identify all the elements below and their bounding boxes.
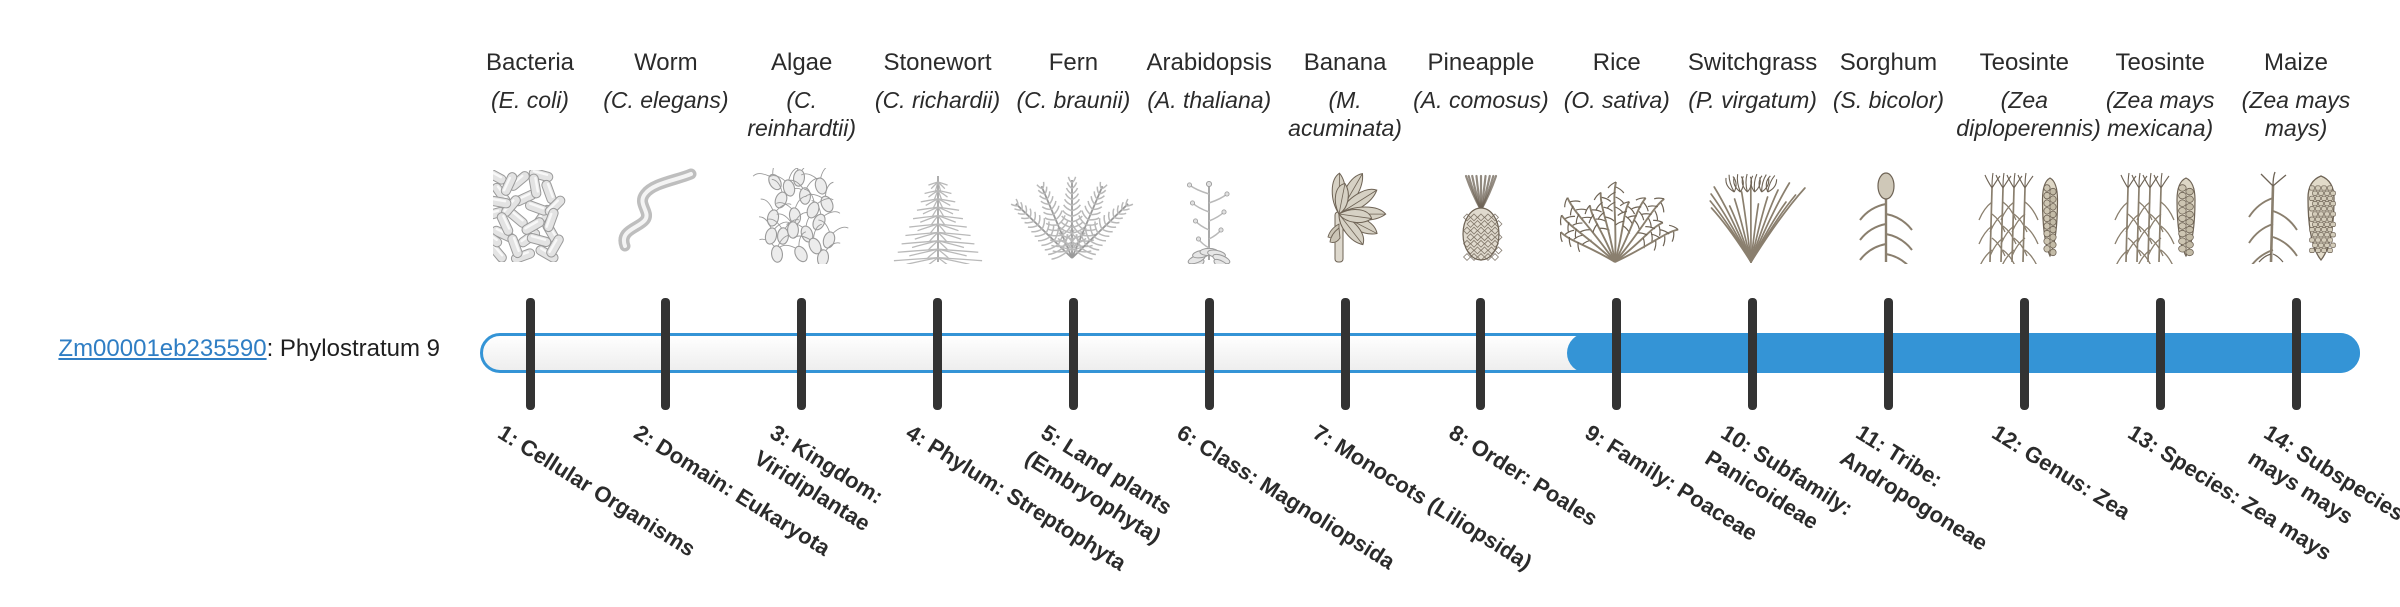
species-scientific-name: (C. braunii)	[1005, 86, 1141, 114]
stratum-tick-12[interactable]	[2020, 298, 2029, 410]
gene-id-link[interactable]: Zm00001eb235590	[58, 335, 266, 362]
nematode-worm-illustration	[598, 168, 734, 264]
gene-label-separator: :	[267, 335, 280, 362]
species-common-name: Teosinte	[2092, 48, 2228, 78]
species-scientific-name: (Zea mays mexicana)	[2092, 86, 2228, 142]
species-column-stonewort: Stonewort(C. richardii)	[870, 48, 1006, 114]
bacteria-rods-illustration	[462, 168, 598, 264]
species-common-name: Banana	[1277, 48, 1413, 78]
stratum-tick-7[interactable]	[1341, 298, 1350, 410]
species-common-name: Fern	[1005, 48, 1141, 78]
species-scientific-name: (A. thaliana)	[1141, 86, 1277, 114]
species-scientific-name: (C. elegans)	[598, 86, 734, 114]
maize-plant-and-ear-illustration	[2228, 168, 2364, 264]
species-column-teosinte: Teosinte(Zea mays mexicana)	[2092, 48, 2228, 142]
fern-frond-illustration	[1005, 168, 1141, 264]
switchgrass-clump-illustration	[1685, 168, 1821, 264]
phylostratum-value: Phylostratum 9	[280, 335, 440, 362]
stratum-tick-4[interactable]	[933, 298, 942, 410]
phylostratum-progress-track[interactable]	[480, 333, 2360, 373]
species-scientific-name: (M. acuminata)	[1277, 86, 1413, 142]
stratum-number: 13:	[2124, 420, 2164, 458]
species-common-name: Worm	[598, 48, 734, 78]
species-scientific-name: (Zea diploperennis)	[1956, 86, 2092, 142]
species-common-name: Switchgrass	[1685, 48, 1821, 78]
stratum-label-7: 7: Monocots (Liliopsida)	[1307, 418, 1543, 581]
species-scientific-name: (Zea mays mays)	[2228, 86, 2364, 142]
species-scientific-name: (C. reinhardtii)	[734, 86, 870, 142]
stratum-tick-11[interactable]	[1884, 298, 1893, 410]
species-common-name: Stonewort	[870, 48, 1006, 78]
gene-phylostratum-label: Zm00001eb235590: Phylostratum 9	[20, 334, 440, 364]
stratum-tick-13[interactable]	[2156, 298, 2165, 410]
species-column-pineapple: Pineapple(A. comosus)	[1413, 48, 1549, 114]
stratum-tick-5[interactable]	[1069, 298, 1078, 410]
species-scientific-name: (A. comosus)	[1413, 86, 1549, 114]
stratum-tick-1[interactable]	[526, 298, 535, 410]
stratum-label-8: 8: Order: Poales	[1443, 418, 1679, 581]
stratum-tick-3[interactable]	[797, 298, 806, 410]
pineapple-fruit-illustration	[1413, 168, 1549, 264]
banana-plant-illustration	[1277, 168, 1413, 264]
species-scientific-name: (E. coli)	[462, 86, 598, 114]
species-column-sorghum: Sorghum(S. bicolor)	[1820, 48, 1956, 114]
species-common-name: Algae	[734, 48, 870, 78]
arabidopsis-rosette-illustration	[1141, 168, 1277, 264]
species-scientific-name: (P. virgatum)	[1685, 86, 1821, 114]
species-column-algae: Algae(C. reinhardtii)	[734, 48, 870, 142]
species-common-name: Arabidopsis	[1141, 48, 1277, 78]
teosinte-plant-and-ear-illustration	[1956, 168, 2092, 264]
stratum-number: 3:	[765, 420, 795, 452]
species-column-fern: Fern(C. braunii)	[1005, 48, 1141, 114]
species-common-name: Pineapple	[1413, 48, 1549, 78]
species-scientific-name: (S. bicolor)	[1820, 86, 1956, 114]
stratum-rank-name: Genus: Zea	[2020, 440, 2135, 525]
stonewort-alga-illustration	[870, 168, 1006, 264]
stratum-tick-14[interactable]	[2292, 298, 2301, 410]
stratum-number: 9:	[1580, 420, 1610, 452]
green-algae-cells-illustration	[734, 168, 870, 264]
stratum-tick-10[interactable]	[1748, 298, 1757, 410]
species-common-name: Bacteria	[462, 48, 598, 78]
stratum-tick-2[interactable]	[661, 298, 670, 410]
sorghum-plant-illustration	[1820, 168, 1956, 264]
species-common-name: Sorghum	[1820, 48, 1956, 78]
species-scientific-name: (C. richardii)	[870, 86, 1006, 114]
species-column-banana: Banana(M. acuminata)	[1277, 48, 1413, 142]
species-column-bacteria: Bacteria(E. coli)	[462, 48, 598, 114]
species-common-name: Maize	[2228, 48, 2364, 78]
species-column-switchgrass: Switchgrass(P. virgatum)	[1685, 48, 1821, 114]
stratum-label-1: 1: Cellular Organisms	[492, 418, 728, 581]
rice-plant-illustration	[1549, 168, 1685, 264]
species-column-rice: Rice(O. sativa)	[1549, 48, 1685, 114]
teosinte-mexicana-plant-and-ear-illustration	[2092, 168, 2228, 264]
species-common-name: Rice	[1549, 48, 1685, 78]
stratum-rank-name: Order: Poales	[1466, 433, 1602, 531]
species-column-teosinte: Teosinte(Zea diploperennis)	[1956, 48, 2092, 142]
species-column-arabidopsis: Arabidopsis(A. thaliana)	[1141, 48, 1277, 114]
species-column-maize: Maize(Zea mays mays)	[2228, 48, 2364, 142]
phylostratum-timeline: Zm00001eb235590: Phylostratum 9 Bacteria…	[0, 0, 2400, 580]
stratum-tick-8[interactable]	[1476, 298, 1485, 410]
phylostratum-progress-fill	[1567, 333, 2360, 373]
species-column-worm: Worm(C. elegans)	[598, 48, 734, 114]
stratum-tick-6[interactable]	[1205, 298, 1214, 410]
species-common-name: Teosinte	[1956, 48, 2092, 78]
stratum-number: 4:	[901, 420, 931, 452]
stratum-tick-9[interactable]	[1612, 298, 1621, 410]
species-scientific-name: (O. sativa)	[1549, 86, 1685, 114]
stratum-number: 12:	[1988, 420, 2028, 458]
